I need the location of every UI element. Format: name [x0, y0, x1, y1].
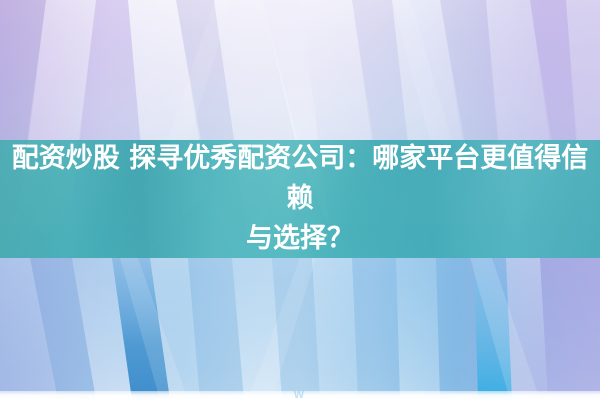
banner-graphic: 配资炒股 探寻优秀配资公司：哪家平台更值得信赖 与选择？ W: [0, 0, 600, 400]
bottom-watermark: W: [0, 390, 600, 398]
title-banner-band: 配资炒股 探寻优秀配资公司：哪家平台更值得信赖 与选择？: [0, 140, 600, 258]
banner-title: 配资炒股 探寻优秀配资公司：哪家平台更值得信赖 与选择？: [0, 139, 600, 259]
